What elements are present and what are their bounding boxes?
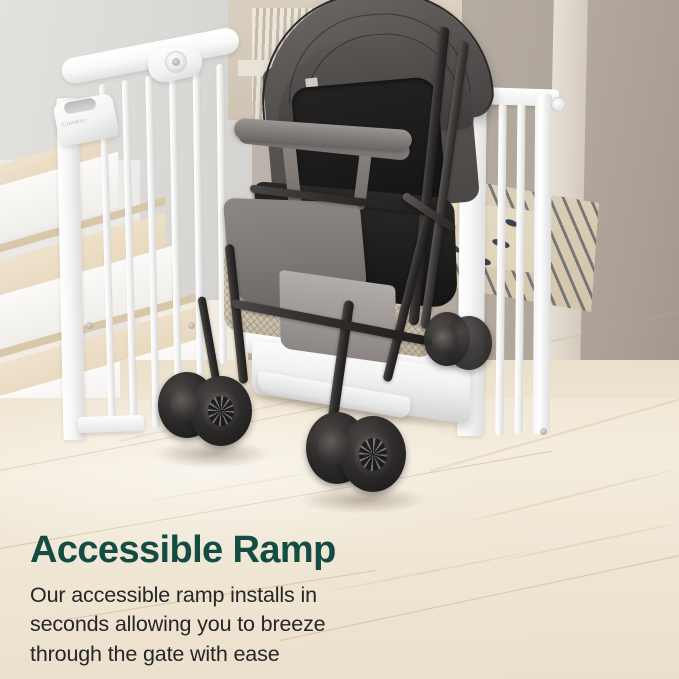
wheel-spokes (208, 396, 234, 426)
gate-latch-knob[interactable] (165, 51, 187, 73)
body-line-3: through the gate with ease (30, 640, 440, 669)
gate-right-post-outer (533, 94, 552, 434)
gate-bolt (540, 428, 547, 435)
wheel-hub (318, 428, 350, 466)
gate-bolt (86, 322, 93, 329)
wheel-spokes (359, 438, 387, 471)
body-line-1: Our accessible ramp installs in (30, 581, 440, 610)
gate-bottom-foot (78, 415, 145, 433)
body-copy: Our accessible ramp installs in seconds … (30, 581, 440, 669)
gate-bolt (188, 322, 195, 329)
headline: Accessible Ramp (30, 530, 460, 571)
product-marketing-image: Cumbor (0, 0, 679, 679)
wheel-hub (432, 326, 458, 356)
wheel-hub (170, 388, 200, 422)
body-line-2: seconds allowing you to breeze (30, 610, 440, 639)
gate-right-adjuster-knob[interactable] (551, 97, 566, 112)
marketing-text-block: Accessible Ramp Our accessible ramp inst… (30, 530, 460, 669)
